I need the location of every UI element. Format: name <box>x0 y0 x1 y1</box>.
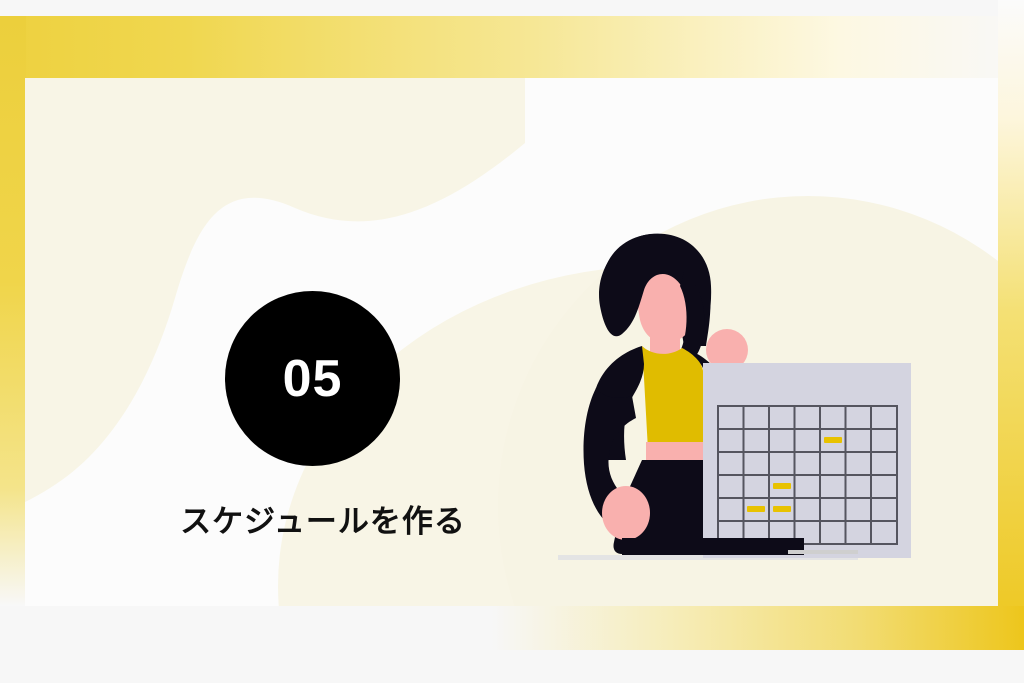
step-number-badge: 05 <box>225 291 400 466</box>
decor-band-left <box>0 16 26 606</box>
yellow-top <box>642 346 706 450</box>
figure-base-block <box>622 538 804 555</box>
calendar-event-marker <box>747 506 765 512</box>
calendar-event-marker <box>773 483 791 489</box>
slide-canvas: 05 スケジュールを作る <box>0 0 1024 683</box>
decor-band-top <box>0 16 1024 78</box>
step-number-label: 05 <box>283 353 343 405</box>
calendar-grid <box>718 406 897 544</box>
page-title: スケジュールを作る <box>173 496 473 541</box>
decor-band-right <box>998 0 1024 650</box>
calendar-event-marker <box>824 437 842 443</box>
decor-band-bottom <box>0 606 1024 650</box>
calendar-base-shadow <box>788 550 858 554</box>
hand-on-hip <box>602 486 650 540</box>
calendar-event-marker <box>773 506 791 512</box>
content-card: 05 スケジュールを作る <box>25 78 998 606</box>
illustration-woman-holding-calendar <box>530 228 950 578</box>
